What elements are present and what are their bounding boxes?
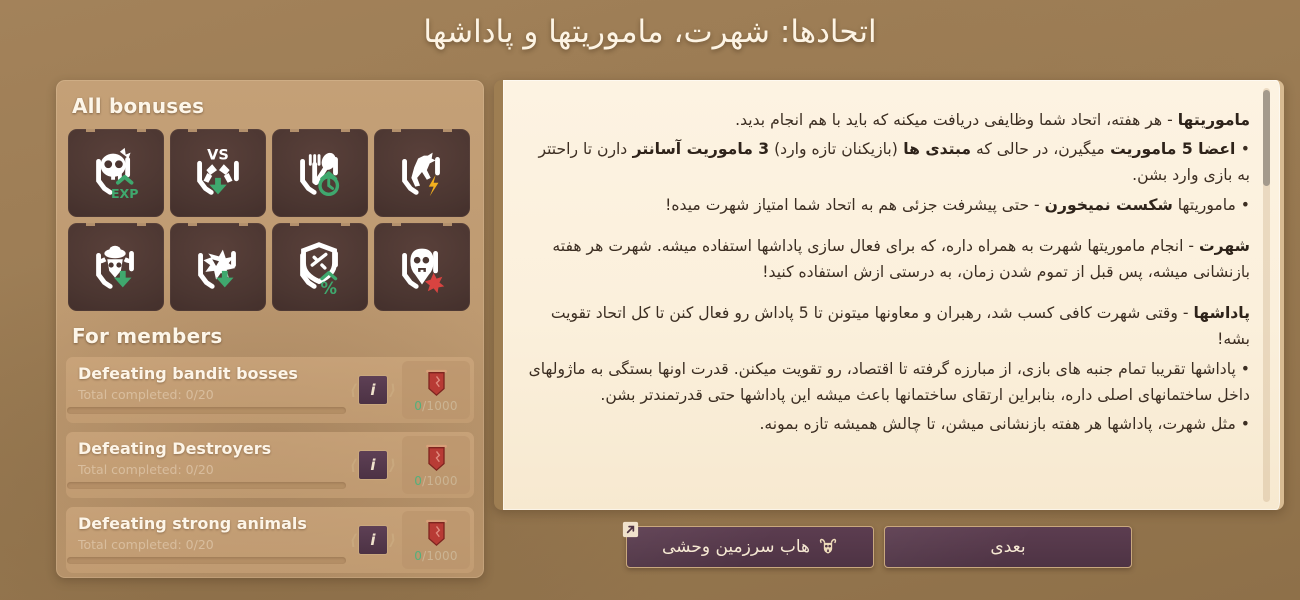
bandit-boss-bonus-icon	[85, 236, 147, 298]
svg-text:%: %	[320, 279, 337, 298]
info-paragraph-rewards-bullet-1: • پاداشها تقریبا تمام جنبه های بازی، از …	[525, 356, 1250, 408]
reward-total: /1000	[422, 549, 458, 563]
mission-row[interactable]: Defeating strong animals Total completed…	[66, 507, 474, 573]
info-text-span: ماموریتها	[1173, 196, 1241, 214]
bullet-marker: •	[1241, 140, 1250, 158]
reward-count: 0/1000	[414, 474, 457, 488]
info-text-strong: 3 ماموریت آسانتر	[627, 140, 769, 158]
reward-current: 0	[414, 549, 422, 563]
svg-text:VS: VS	[207, 147, 229, 163]
info-panel: ماموریتها - هر هفته، اتحاد شما وظایفی در…	[494, 80, 1284, 510]
bracket-left-icon: ⟨	[350, 456, 357, 474]
for-members-title: For members	[72, 324, 484, 348]
next-button-label: بعدی	[990, 537, 1025, 557]
info-paragraph-lead: ماموریتها	[1178, 111, 1250, 129]
page-title: اتحادها: شهرت، ماموریتها و پاداشها	[0, 14, 1300, 50]
mission-title: Defeating Destroyers	[78, 439, 358, 458]
info-text-body: ماموریتها - هر هفته، اتحاد شما وظایفی در…	[503, 80, 1280, 452]
info-text-span: - حتی پیشرفت جزئی هم به اتحاد شما امتیاز…	[665, 196, 1045, 214]
mission-reward[interactable]: 0/1000	[402, 511, 470, 569]
mission-info-button[interactable]: ⟨ i ⟩	[358, 525, 388, 555]
mission-progress-label: Total completed: 0/20	[78, 462, 358, 477]
wild-land-hub-button[interactable]: هاب سرزمین وحشی	[626, 526, 874, 568]
info-paragraph-rewards-bullet-2: • مثل شهرت، پاداشها هر هفته بازنشانی میش…	[525, 411, 1250, 437]
info-text-strong: شکست نمیخورن	[1045, 196, 1173, 214]
mission-title: Defeating bandit bosses	[78, 364, 358, 383]
reward-total: /1000	[422, 399, 458, 413]
bonus-cell-duel-vs[interactable]: VS	[170, 129, 266, 217]
info-paragraph-missions-bullet-1: • اعضا 5 ماموریت میگیرن، در حالی که مبتد…	[525, 136, 1250, 188]
reward-count: 0/1000	[414, 399, 457, 413]
info-paragraph-text: - وقتی شهرت کافی کسب شد، رهبران و معاونه…	[551, 304, 1250, 348]
external-link-icon	[621, 520, 640, 539]
all-bonuses-title: All bonuses	[72, 94, 484, 118]
bonus-cell-food-timer[interactable]	[272, 129, 368, 217]
bracket-right-icon: ⟩	[389, 456, 396, 474]
bull-skull-icon	[818, 537, 838, 557]
bonus-cell-horse-speed[interactable]	[374, 129, 470, 217]
mission-progress-bar	[67, 557, 346, 564]
bracket-left-icon: ⟨	[350, 381, 357, 399]
info-paragraph-missions-bullet-2: • ماموریتها شکست نمیخورن - حتی پیشرفت جز…	[525, 192, 1250, 218]
scrollbar-thumb[interactable]	[1263, 90, 1270, 186]
mission-row[interactable]: Defeating Destroyers Total completed: 0/…	[66, 432, 474, 498]
info-text-strong: مبتدی ها	[898, 140, 971, 158]
mission-row[interactable]: Defeating bandit bosses Total completed:…	[66, 357, 474, 423]
left-panel: All bonuses EXP VS	[56, 80, 484, 578]
info-paragraph-rewards-intro: پاداشها - وقتی شهرت کافی کسب شد، رهبران …	[525, 300, 1250, 352]
reward-count: 0/1000	[414, 549, 457, 563]
info-paragraph-lead: شهرت	[1199, 237, 1250, 255]
bullet-marker: •	[1241, 360, 1250, 378]
reputation-banner-icon	[424, 443, 449, 473]
mission-info: Defeating strong animals Total completed…	[66, 507, 358, 573]
duel-vs-bonus-icon: VS	[187, 142, 249, 204]
bonus-cell-death-penalty[interactable]	[374, 223, 470, 311]
mission-info: Defeating bandit bosses Total completed:…	[66, 357, 358, 423]
reward-current: 0	[414, 399, 422, 413]
skull-exp-bonus-icon: EXP	[85, 142, 147, 204]
info-text-span: (بازیکنان تازه وارد)	[769, 140, 898, 158]
explosion-damage-bonus-icon	[187, 236, 249, 298]
bracket-left-icon: ⟨	[350, 531, 357, 549]
button-row: هاب سرزمین وحشی بعدی	[626, 526, 1132, 568]
info-label: i	[370, 531, 375, 549]
mission-reward[interactable]: 0/1000	[402, 361, 470, 419]
mission-reward[interactable]: 0/1000	[402, 436, 470, 494]
mission-title: Defeating strong animals	[78, 514, 358, 533]
reward-current: 0	[414, 474, 422, 488]
next-button[interactable]: بعدی	[884, 526, 1132, 568]
bullet-marker: •	[1241, 196, 1250, 214]
death-penalty-bonus-icon	[391, 236, 453, 298]
mission-progress-label: Total completed: 0/20	[78, 387, 358, 402]
bonus-cell-explosion-damage[interactable]	[170, 223, 266, 311]
bonus-grid: EXP VS	[68, 129, 484, 311]
bullet-marker: •	[1241, 415, 1250, 433]
bonus-cell-bandit-boss[interactable]	[68, 223, 164, 311]
bonus-cell-shield-percent[interactable]: %	[272, 223, 368, 311]
info-paragraph-text: - انجام ماموریتها شهرت به همراه داره، که…	[552, 237, 1250, 281]
mission-list: Defeating bandit bosses Total completed:…	[66, 357, 474, 573]
scrollbar-track[interactable]	[1263, 88, 1270, 502]
mission-info-button[interactable]: ⟨ i ⟩	[358, 375, 388, 405]
reputation-banner-icon	[424, 518, 449, 548]
info-text-span: میگیرن، در حالی که	[971, 140, 1105, 158]
bracket-right-icon: ⟩	[389, 531, 396, 549]
info-text-strong: اعضا 5 ماموریت	[1105, 140, 1241, 158]
mission-progress-bar	[67, 407, 346, 414]
info-label: i	[370, 381, 375, 399]
mission-progress-bar	[67, 482, 346, 489]
food-timer-bonus-icon	[289, 142, 351, 204]
shield-percent-bonus-icon: %	[289, 236, 351, 298]
info-paragraph-missions-intro: ماموریتها - هر هفته، اتحاد شما وظایفی در…	[525, 107, 1250, 133]
svg-text:EXP: EXP	[111, 186, 139, 201]
info-paragraph-lead: پاداشها	[1193, 304, 1250, 322]
info-label: i	[370, 456, 375, 474]
reward-total: /1000	[422, 474, 458, 488]
horse-speed-bonus-icon	[391, 142, 453, 204]
info-paragraph-text: - هر هفته، اتحاد شما وظایفی دریافت میکنه…	[735, 111, 1178, 129]
info-text-span: مثل شهرت، پاداشها هر هفته بازنشانی میشن،…	[759, 415, 1240, 433]
mission-info-button[interactable]: ⟨ i ⟩	[358, 450, 388, 480]
info-paragraph-reputation-intro: شهرت - انجام ماموریتها شهرت به همراه دار…	[525, 233, 1250, 285]
bonus-cell-skull-exp[interactable]: EXP	[68, 129, 164, 217]
info-text-span: پاداشها تقریبا تمام جنبه های بازی، از مب…	[529, 360, 1250, 404]
bracket-right-icon: ⟩	[389, 381, 396, 399]
reputation-banner-icon	[424, 368, 449, 398]
mission-info: Defeating Destroyers Total completed: 0/…	[66, 432, 358, 498]
wild-land-hub-label: هاب سرزمین وحشی	[662, 537, 810, 557]
mission-progress-label: Total completed: 0/20	[78, 537, 358, 552]
